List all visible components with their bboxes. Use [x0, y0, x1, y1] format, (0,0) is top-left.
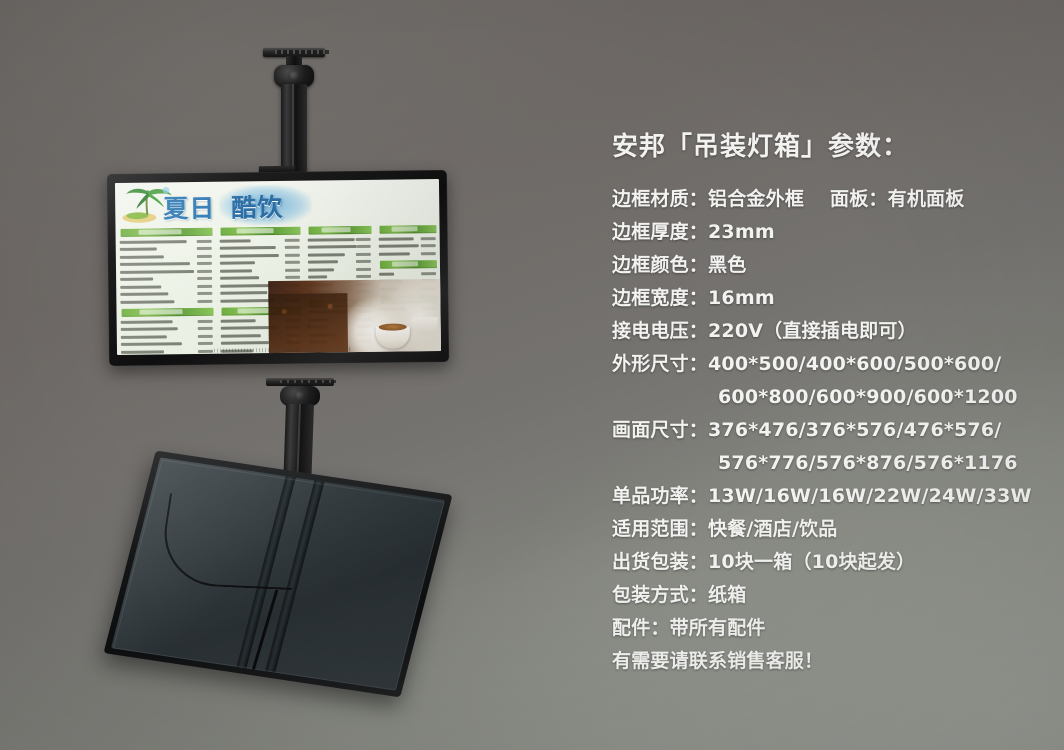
menu-item-row [219, 244, 301, 251]
menu-panel-screen: 夏日酷饮 [115, 179, 441, 355]
menu-section [119, 228, 214, 305]
menu-item-row [378, 250, 437, 257]
spec-value: 23mm [708, 221, 775, 243]
coffee-cup-icon [376, 327, 410, 349]
menu-section-header [308, 226, 371, 235]
spec-row-frame-thickness: 边框厚度：23mm [612, 216, 1042, 249]
spec-row-power: 单品功率：13W/16W/16W/22W/24W/33W [612, 480, 1042, 513]
spec-row-frame-width: 边框宽度：16mm [612, 282, 1042, 315]
menu-item-row [119, 283, 214, 290]
aluminum-bezel-frame: 夏日酷饮 [107, 170, 449, 366]
spec-value: 220V（直接插电即可） [708, 320, 917, 342]
menu-title: 夏日酷饮 [163, 183, 324, 227]
menu-header-art: 夏日酷饮 [115, 179, 440, 231]
menu-item-row [219, 237, 301, 244]
spec-row-outer-size-cont: 600*800/600*900/600*1200 [612, 381, 1042, 414]
spec-row-contact-note: 有需要请联系销售客服！ [612, 645, 1042, 678]
menu-title-line2: 酷饮 [231, 196, 283, 221]
menu-item-row [307, 266, 372, 273]
menu-item-row [378, 235, 437, 242]
spec-label: 边框材质： [612, 188, 708, 210]
spec-label: 边框颜色： [612, 254, 708, 276]
spec-row-application: 适用范围：快餐/酒店/饮品 [612, 513, 1042, 546]
mounting-plate-holes-2 [280, 380, 336, 383]
spec-value: 快餐/酒店/饮品 [708, 518, 837, 540]
menu-item-row [120, 325, 215, 332]
spec-value: 16mm [708, 287, 775, 309]
spec-value: 600*800/600*900/600*1200 [718, 386, 1018, 408]
spec-label: 画面尺寸： [612, 419, 708, 441]
spec-value: 376*476/376*576/476*576/ [708, 419, 1001, 441]
menu-section-header [380, 260, 437, 269]
spec-label: 配件： [612, 617, 670, 639]
spec-value: 576*776/576*876/576*1176 [718, 452, 1018, 474]
spec-extra: 面板：有机面板 [830, 188, 964, 210]
menu-item-row [307, 251, 372, 258]
product-photo-canvas: 夏日酷饮 [0, 0, 1064, 750]
spec-label: 外形尺寸： [612, 353, 708, 375]
power-cable [156, 494, 305, 591]
rear-panel-rib [236, 476, 295, 668]
light-box-rear-view [103, 451, 452, 698]
spec-row-packaging: 包装方式：纸箱 [612, 579, 1042, 612]
menu-item-row [120, 318, 215, 325]
spec-text-block: 安邦「吊装灯箱」参数： 边框材质：铝合金外框面板：有机面板 边框厚度：23mm … [612, 126, 1042, 678]
spec-label: 包装方式： [612, 584, 708, 606]
rear-panel-edge [113, 460, 445, 691]
coffee-photo [268, 279, 441, 353]
spec-row-shipping-pack: 出货包装：10块一箱（10块起发） [612, 546, 1042, 579]
spec-row-picture-size-cont: 576*776/576*876/576*1176 [612, 447, 1042, 480]
menu-item-row [120, 340, 215, 347]
spec-row-picture-size: 画面尺寸：376*476/376*576/476*576/ [612, 414, 1042, 447]
spec-row-voltage: 接电电压：220V（直接插电即可） [612, 315, 1042, 348]
spec-title: 安邦「吊装灯箱」参数： [612, 126, 1042, 163]
spec-value: 带所有配件 [670, 617, 766, 639]
menu-item-row [378, 243, 437, 250]
menu-rows [120, 318, 215, 355]
spec-label: 适用范围： [612, 518, 708, 540]
menu-item-row [119, 253, 214, 260]
spec-value: 400*500/400*600/500*600/ [708, 353, 1001, 375]
menu-item-row [119, 290, 214, 297]
coffee-cup-secondary-icon [411, 317, 437, 335]
menu-rows [119, 238, 214, 305]
spec-label: 接电电压： [612, 320, 708, 342]
menu-item-row [119, 268, 214, 275]
menu-item-row [219, 259, 301, 266]
menu-section-header [221, 227, 301, 236]
menu-section [378, 225, 437, 257]
menu-item-row [307, 243, 372, 250]
spec-row-accessories: 配件：带所有配件 [612, 612, 1042, 645]
ceiling-mounting-plate-2 [266, 378, 334, 386]
menu-item-row [119, 245, 214, 252]
menu-item-row [120, 348, 215, 355]
menu-title-line1: 夏日 [163, 197, 215, 222]
spec-value: 纸箱 [708, 584, 746, 606]
menu-item-row [119, 275, 214, 282]
spec-label: 边框宽度： [612, 287, 708, 309]
spec-label: 单品功率： [612, 485, 708, 507]
menu-light-box-front: 夏日酷饮 [107, 170, 449, 366]
menu-section [119, 308, 214, 355]
spec-value: 黑色 [708, 254, 746, 276]
menu-section-header [121, 308, 214, 317]
spec-value: 有需要请联系销售客服！ [612, 650, 823, 672]
spec-row-frame-color: 边框颜色：黑色 [612, 249, 1042, 282]
menu-item-row [119, 238, 214, 245]
menu-item-row [119, 260, 214, 267]
mounting-plate-holes [275, 50, 329, 54]
menu-item-row [120, 333, 215, 340]
spec-value: 铝合金外框 [708, 188, 804, 210]
spec-label: 边框厚度： [612, 221, 708, 243]
rear-panel-rib [265, 480, 324, 672]
menu-section-header [380, 225, 437, 234]
power-cable-run [252, 589, 278, 669]
menu-item-row [219, 267, 301, 274]
menu-item-row [219, 252, 301, 259]
menu-column-1 [116, 228, 218, 355]
spec-value: 10块一箱（10块起发） [708, 551, 915, 573]
spec-value: 13W/16W/16W/22W/24W/33W [708, 485, 1032, 507]
spec-row-outer-size: 外形尺寸：400*500/400*600/500*600/ [612, 348, 1042, 381]
rear-frame [103, 451, 452, 698]
menu-item-row [378, 270, 437, 277]
menu-rows [378, 235, 437, 257]
menu-item-row [307, 258, 372, 265]
spec-label: 出货包装： [612, 551, 708, 573]
spec-row-frame-material: 边框材质：铝合金外框面板：有机面板 [612, 183, 1042, 216]
menu-section-header [121, 228, 214, 237]
menu-item-row [307, 236, 372, 243]
rear-back-panel [111, 457, 445, 690]
menu-item-row [119, 298, 214, 305]
